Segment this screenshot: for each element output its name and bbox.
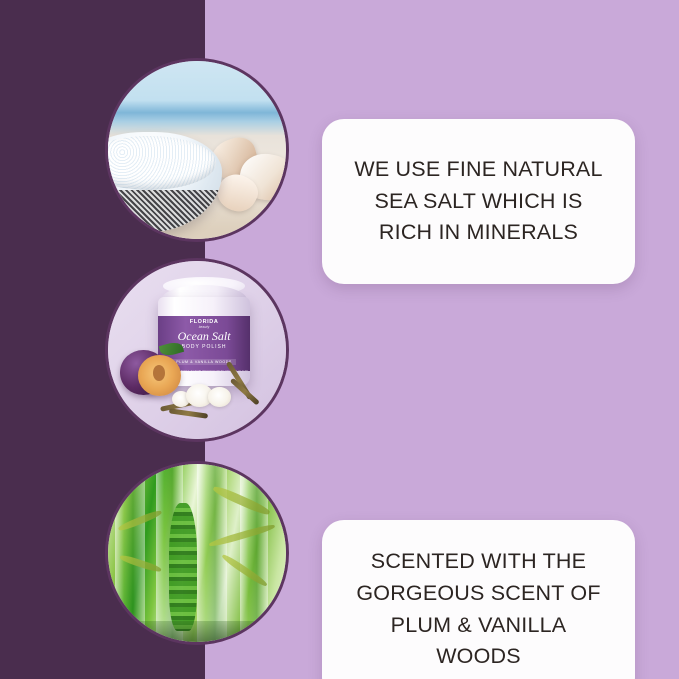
glass-tube bbox=[115, 461, 145, 645]
feature-row-scent: FLORIDA beauty Ocean Salt BODY POLISH PL… bbox=[0, 258, 679, 442]
vanilla-flower bbox=[208, 387, 231, 407]
label-brand-sub: beauty bbox=[158, 325, 251, 329]
feature-image-product-jar: FLORIDA beauty Ocean Salt BODY POLISH PL… bbox=[105, 258, 289, 442]
plum-pit bbox=[153, 365, 165, 381]
sea-salt-beach-scene bbox=[108, 61, 286, 239]
feature-row-sea-salt: WE USE FINE NATURAL SEA SALT WHICH IS RI… bbox=[0, 58, 679, 242]
feature-image-marine-algae bbox=[105, 461, 289, 645]
feature-row-marine-algae: CONTAINS MARINE ALGAE WITH HYDRATING AND… bbox=[0, 461, 679, 645]
feature-text-sea-salt: WE USE FINE NATURAL SEA SALT WHICH IS RI… bbox=[354, 154, 602, 249]
product-jar-scene: FLORIDA beauty Ocean Salt BODY POLISH PL… bbox=[108, 261, 286, 439]
algae-strand bbox=[169, 503, 197, 631]
feature-image-sea-salt bbox=[105, 58, 289, 242]
vanilla-bean bbox=[168, 408, 207, 418]
marine-algae-scene bbox=[108, 464, 286, 642]
salt-bowl bbox=[105, 132, 222, 232]
product-feature-infographic: WE USE FINE NATURAL SEA SALT WHICH IS RI… bbox=[0, 0, 679, 679]
tube-base-shadow bbox=[108, 621, 286, 642]
label-title: Ocean Salt bbox=[158, 330, 251, 343]
glass-tube bbox=[240, 461, 268, 645]
